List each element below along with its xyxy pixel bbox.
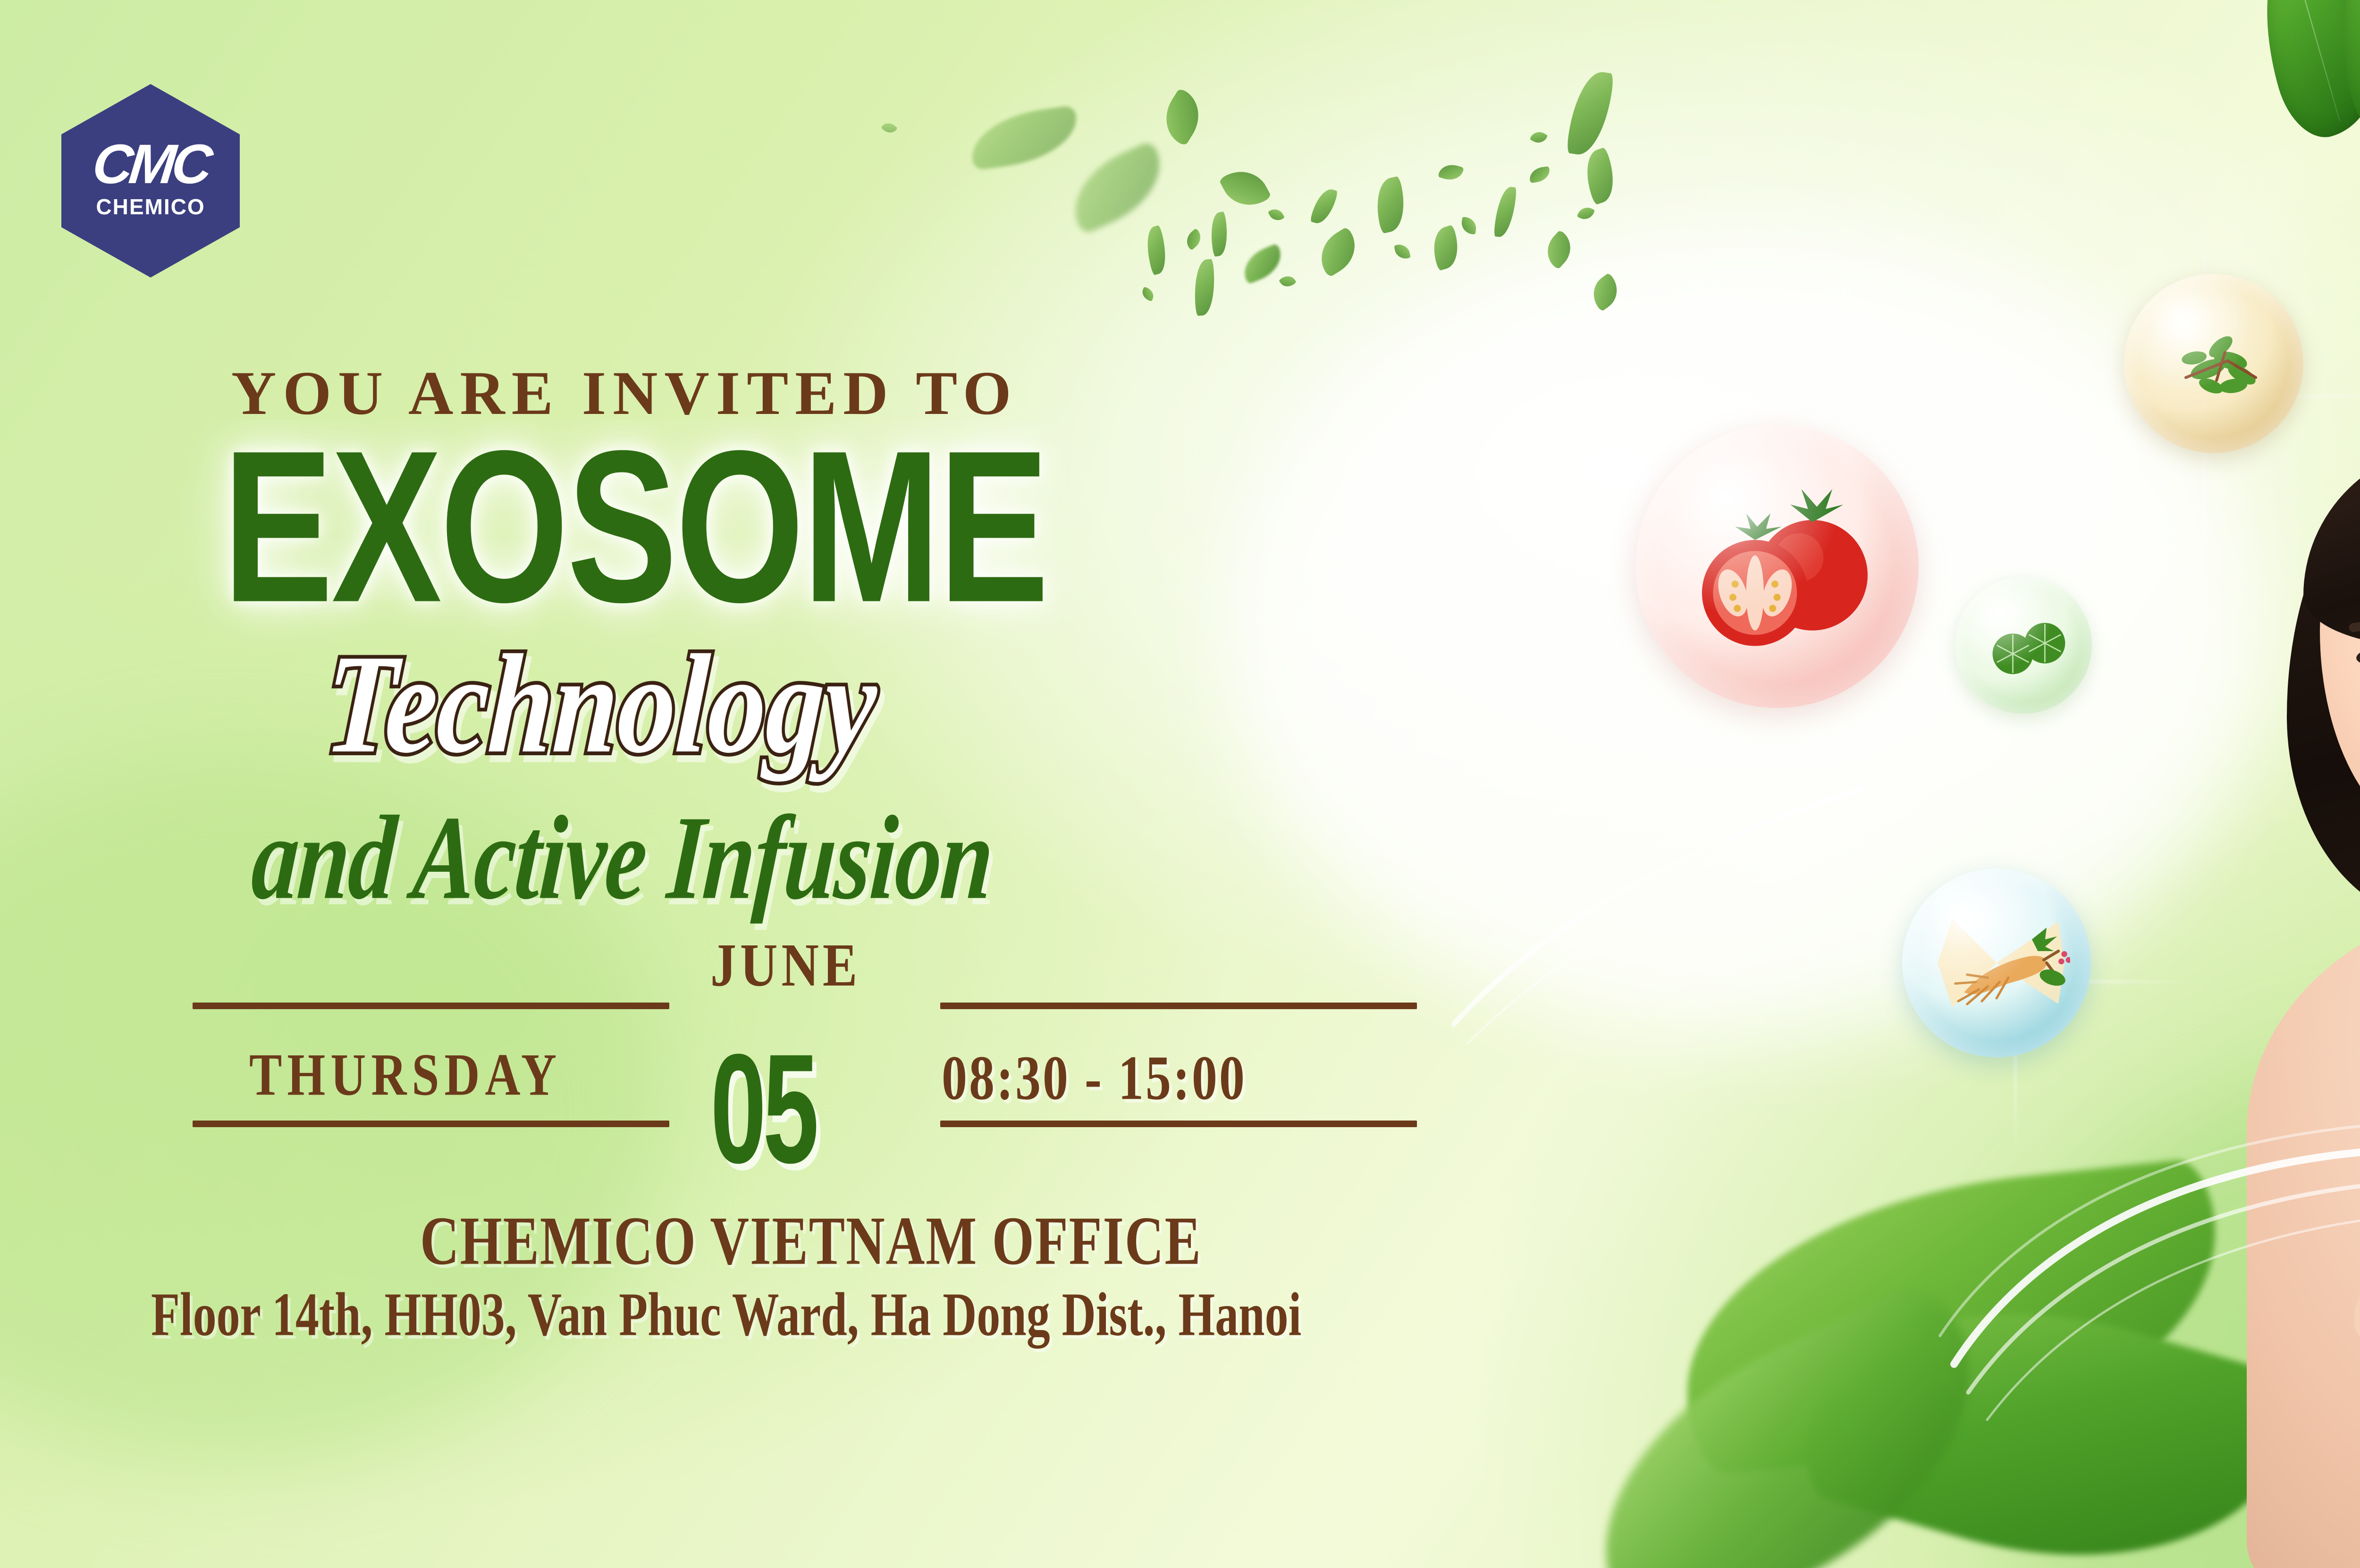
top-right-leaf-cluster (2256, 0, 2360, 227)
weekday-rule-bottom (193, 1121, 669, 1127)
bg-glow-bottom-right (1982, 1038, 2360, 1568)
script-title: Technology (321, 623, 881, 785)
bubble-sheen (2124, 274, 2303, 453)
venue-name: CHEMICO VIETNAM OFFICE (420, 1201, 1202, 1281)
event-month: JUNE (710, 930, 861, 1001)
foreground-leaf (1792, 1253, 2304, 1568)
foreground-leaf (1551, 1273, 2028, 1568)
flying-leaf (1578, 147, 1621, 205)
event-date-strip: JUNE 05 THURSDAY 08:30 - 15:00 (0, 982, 1463, 1180)
model-eye-left (2355, 645, 2360, 668)
model-hair-back (2287, 434, 2360, 920)
corner-leaf (2240, 0, 2360, 147)
model-torso (2247, 902, 2360, 1568)
event-day: 05 (710, 1020, 816, 1198)
event-invitation-banner: CMC CHEMICO BIOCHEMPRO YOU ARE INVITED T… (0, 0, 2360, 1568)
centella-bubble (1955, 577, 2092, 714)
time-rule-bottom (940, 1121, 1417, 1127)
tomato-bubble (1635, 425, 1919, 708)
flying-leaf (1577, 204, 1595, 222)
model-portrait (2190, 401, 2360, 1568)
ginseng-bubble (1902, 868, 2091, 1057)
model-face (2320, 491, 2360, 840)
subtitle-text: and Active Infusion (248, 789, 997, 927)
flying-leaf (1539, 229, 1579, 270)
event-weekday: THURSDAY (249, 1041, 562, 1109)
page-title: EXOSOME (223, 427, 1047, 626)
time-rule-top (940, 1003, 1417, 1009)
bubble-sheen (1902, 868, 2091, 1057)
weekday-rule-top (193, 1003, 669, 1009)
light-swirl-ribbons (1935, 1062, 2360, 1487)
event-time: 08:30 - 15:00 (942, 1042, 1247, 1115)
foreground-leaf-cluster (1661, 1156, 2360, 1568)
flying-leaf (1530, 128, 1548, 146)
venue-address: Floor 14th, HH03, Van Phuc Ward, Ha Dong… (151, 1279, 1301, 1350)
foreground-leaf (1668, 1157, 2235, 1476)
bubble-sheen (1635, 425, 1919, 708)
flying-leaf (1528, 166, 1551, 183)
purslane-bubble (2124, 274, 2303, 453)
corner-leaf (2328, 0, 2360, 147)
flying-leaf (1566, 68, 1614, 158)
model-arm (2335, 1147, 2360, 1383)
model-hair-front (2303, 444, 2360, 647)
flying-leaf (1585, 272, 1625, 312)
corner-leaf (2358, 0, 2360, 49)
model-brow-left (2348, 615, 2360, 632)
bubble-sheen (1955, 577, 2092, 714)
